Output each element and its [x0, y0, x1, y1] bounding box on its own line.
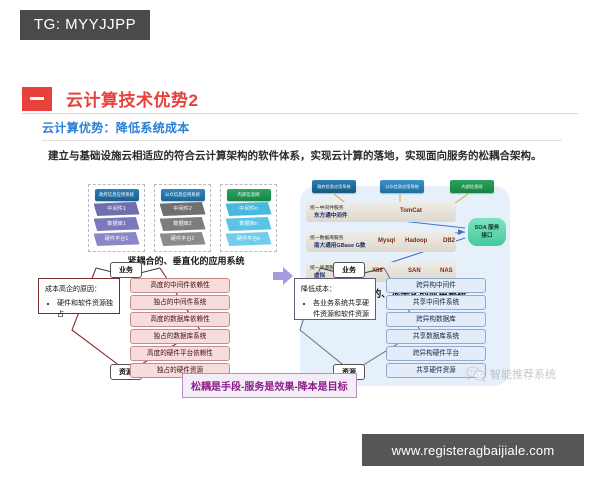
legacy-stack-2-head: 公众信息应用系统	[161, 189, 205, 201]
legacy-stack-1-head: 政府信息应用系统	[95, 189, 139, 201]
left-reason-bullet: 硬件和软件资源独占	[57, 298, 113, 320]
list-item: 跨异构硬件平台	[386, 346, 486, 361]
service-row-database-sub: 南大通用GBase G数	[314, 241, 366, 249]
product-mysql: Mysql	[378, 238, 395, 244]
legacy-stack-2-layer: 中间件2	[160, 202, 206, 216]
legacy-stack-2: 公众信息应用系统 中间件2 数据库2 硬件平台2	[154, 184, 211, 252]
list-item: 独占的中间件系统	[130, 295, 230, 310]
product-tomcat: TomCat	[400, 208, 422, 214]
list-item: 跨异构数据库	[386, 312, 486, 327]
soa-service-interface-box: SOA 服务 接口	[468, 218, 506, 246]
list-item: 共享中间件系统	[386, 295, 486, 310]
tg-tag-watermark: TG: MYYJJPP	[20, 10, 150, 40]
right-item-list: 跨异构中间件 共享中间件系统 跨异构数据库 共享数据库系统 跨异构硬件平台 共享…	[386, 278, 486, 380]
soa-line-1: SOA 服务	[475, 224, 500, 232]
list-item: 独占的数据库系统	[130, 329, 230, 344]
product-db2: DB2	[443, 238, 455, 244]
service-row-middleware-sub: 东方通中间件	[314, 211, 348, 219]
wechat-watermark: 智能推荐系统	[466, 366, 556, 382]
service-row-middleware-tag: 统一中间件服务	[310, 204, 344, 211]
slide-page: TG: MYYJJPP 云计算技术优势2 云计算优势：降低系统成本 建立与基础设…	[0, 0, 600, 480]
legacy-stack-3-head: 内部信息网	[227, 189, 271, 201]
legacy-stack-1-layer: 硬件平台1	[94, 232, 140, 246]
legacy-architecture-panel: 政府信息应用系统 中间件1 数据库1 硬件平台1 公众信息应用系统 中间件2 数…	[88, 184, 283, 256]
legacy-stack-1: 政府信息应用系统 中间件1 数据库1 硬件平台1	[88, 184, 145, 252]
right-reason-bullet: 各业务系统共享硬件资源和软件资源	[313, 298, 369, 320]
legacy-stack-1-layer: 中间件1	[94, 202, 140, 216]
wechat-label: 智能推荐系统	[490, 366, 556, 382]
page-title: 云计算技术优势2	[66, 86, 198, 111]
service-row-database-tag: 统一数据库服务	[310, 234, 344, 241]
legacy-stack-3: 内部信息网 中间件n 数据库n 硬件平台n	[220, 184, 277, 252]
subtitle-divider	[42, 140, 562, 141]
page-title-row: 云计算技术优势2	[22, 86, 198, 111]
left-item-list: 高度的中间件依赖性 独占的中间件系统 高度的数据库依赖性 独占的数据库系统 高度…	[130, 278, 230, 380]
service-row-middleware: 统一中间件服务 东方通中间件	[306, 202, 456, 222]
right-reason-title: 降低成本：	[301, 284, 369, 295]
soa-line-2: 接口	[481, 232, 492, 240]
legacy-stack-3-layer: 数据库n	[226, 217, 272, 231]
dash-marker-icon	[22, 87, 52, 111]
left-reason-title: 成本高企的原因：	[45, 284, 113, 295]
lead-paragraph: 建立与基础设施云相适应的符合云计算架构的软件体系，实现云计算的落地，实现面向服务…	[48, 148, 568, 164]
title-divider	[22, 113, 578, 114]
list-item: 共享数据库系统	[386, 329, 486, 344]
product-hadoop: Hadoop	[405, 238, 427, 244]
legacy-stack-3-layer: 硬件平台n	[226, 232, 272, 246]
url-watermark: www.registeragbaijiale.com	[362, 434, 584, 466]
left-node-business: 业务	[110, 262, 142, 278]
list-item: 高度的硬件平台依赖性	[130, 346, 230, 361]
right-reason-box: 降低成本： 各业务系统共享硬件资源和软件资源	[294, 278, 376, 320]
list-item: 跨异构中间件	[386, 278, 486, 293]
page-subtitle: 云计算优势：降低系统成本	[42, 119, 190, 136]
legacy-stack-1-layer: 数据库1	[94, 217, 140, 231]
slogan-box: 松耦是手段-服务是效果-降本是目标	[182, 373, 357, 398]
list-item: 高度的中间件依赖性	[130, 278, 230, 293]
legacy-stack-2-layer: 数据库2	[160, 217, 206, 231]
left-reason-box: 成本高企的原因： 硬件和软件资源独占	[38, 278, 120, 314]
list-item: 高度的数据库依赖性	[130, 312, 230, 327]
legacy-stack-2-layer: 硬件平台2	[160, 232, 206, 246]
right-node-business: 业务	[333, 262, 365, 278]
legacy-stack-3-layer: 中间件n	[226, 202, 272, 216]
wechat-icon	[466, 366, 486, 382]
